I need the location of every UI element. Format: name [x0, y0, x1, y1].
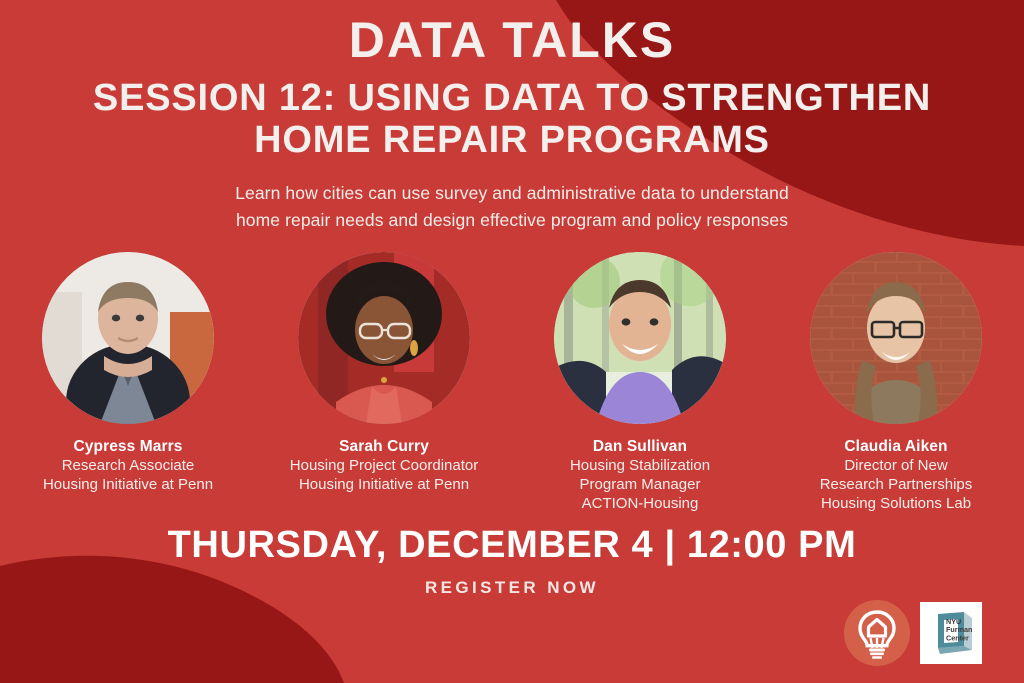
speaker-name: Cypress Marrs [74, 438, 183, 456]
subtitle-line-1: SESSION 12: USING DATA TO STRENGTHEN [0, 77, 1024, 120]
description-line-2: home repair needs and design effective p… [0, 207, 1024, 234]
register-now-cta[interactable]: REGISTER NOW [0, 578, 1024, 598]
description-line-1: Learn how cities can use survey and admi… [0, 180, 1024, 207]
speaker-title-line-2: Housing Initiative at Penn [43, 476, 213, 495]
headshot-sarah-curry [298, 252, 470, 424]
speaker-card: Dan Sullivan Housing Stabilization Progr… [512, 252, 768, 514]
speaker-name: Claudia Aiken [844, 438, 947, 456]
logo-group: NYU Furman Center [844, 600, 982, 666]
speaker-name: Sarah Curry [339, 438, 429, 456]
speaker-title-line-1: Housing Project Coordinator [290, 457, 478, 476]
headshot-cypress-marrs [42, 252, 214, 424]
speaker-card: Cypress Marrs Research Associate Housing… [0, 252, 256, 514]
avatar [42, 252, 214, 424]
speaker-name: Dan Sullivan [593, 438, 687, 456]
speaker-title: Research Associate Housing Initiative at… [43, 457, 213, 495]
avatar [810, 252, 982, 424]
speaker-title-line-3: ACTION-Housing [570, 495, 710, 514]
speaker-title-line-3: Housing Solutions Lab [820, 495, 973, 514]
speaker-title-line-2: Program Manager [570, 476, 710, 495]
speaker-title-line-2: Housing Initiative at Penn [290, 476, 478, 495]
headshot-dan-sullivan [554, 252, 726, 424]
headline-block: DATA TALKS SESSION 12: USING DATA TO STR… [0, 14, 1024, 162]
speaker-title-line-1: Research Associate [43, 457, 213, 476]
speaker-title-line-2: Research Partnerships [820, 476, 973, 495]
avatar [298, 252, 470, 424]
page-subtitle: SESSION 12: USING DATA TO STRENGTHEN HOM… [0, 77, 1024, 162]
nyu-furman-center-logo: NYU Furman Center [920, 602, 982, 664]
speaker-card: Sarah Curry Housing Project Coordinator … [256, 252, 512, 514]
event-poster: DATA TALKS SESSION 12: USING DATA TO STR… [0, 0, 1024, 683]
bottom-left-dark-blob [0, 556, 344, 683]
speaker-title: Housing Stabilization Program Manager AC… [570, 457, 710, 514]
avatar [554, 252, 726, 424]
headshot-claudia-aiken [810, 252, 982, 424]
speaker-title-line-1: Director of New [820, 457, 973, 476]
housing-solutions-lab-lightbulb-logo [844, 600, 910, 666]
speaker-list: Cypress Marrs Research Associate Housing… [0, 252, 1024, 514]
speaker-card: Claudia Aiken Director of New Research P… [768, 252, 1024, 514]
event-datetime: THURSDAY, DECEMBER 4 | 12:00 PM [0, 524, 1024, 567]
nyu-logo-line-3: Center [946, 633, 969, 642]
speaker-title: Director of New Research Partnerships Ho… [820, 457, 973, 514]
page-title: DATA TALKS [0, 14, 1024, 67]
subtitle-line-2: HOME REPAIR PROGRAMS [0, 119, 1024, 162]
speaker-title-line-1: Housing Stabilization [570, 457, 710, 476]
description-text: Learn how cities can use survey and admi… [0, 180, 1024, 234]
speaker-title: Housing Project Coordinator Housing Init… [290, 457, 478, 495]
